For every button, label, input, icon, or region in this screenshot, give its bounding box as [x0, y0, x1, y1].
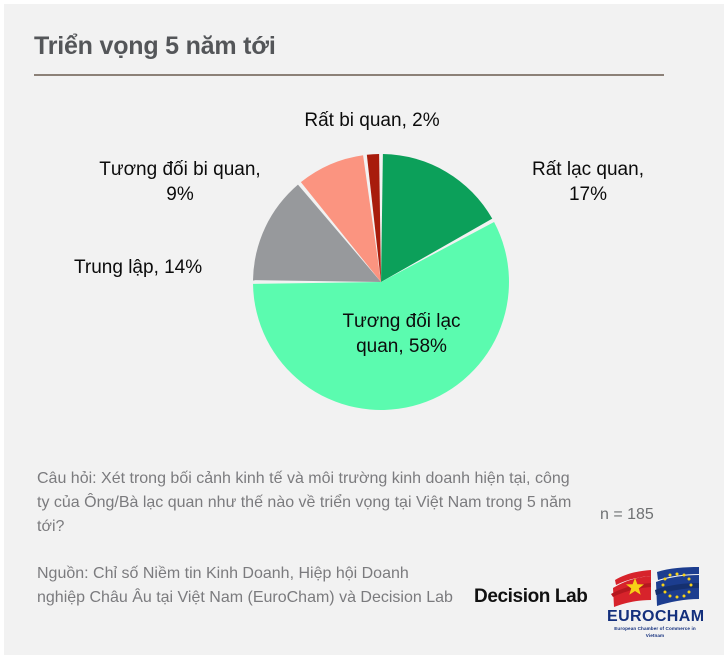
pie-label-very-pessimistic: Rất bi quan, 2%	[252, 108, 492, 133]
pie-label-very-optimistic: Rất lạc quan, 17%	[488, 157, 688, 207]
sample-size-note: n = 185	[600, 506, 654, 524]
page-title: Triển vọng 5 năm tới	[34, 30, 674, 62]
eurocham-wordmark: EUROCHAM	[607, 608, 703, 625]
vietnam-flag-icon	[611, 570, 651, 607]
eurocham-logo: EUROCHAM European Chamber of Commerce in…	[607, 566, 703, 632]
eu-flag-icon	[655, 567, 699, 606]
logo-row: Decision Lab	[474, 566, 704, 636]
title-block: Triển vọng 5 năm tới	[34, 30, 674, 76]
pie-label-somewhat-pessimistic: Tương đối bi quan, 9%	[66, 157, 294, 207]
eurocham-flags-icon	[607, 566, 703, 608]
question-note: Câu hỏi: Xét trong bối cảnh kinh tế và m…	[37, 467, 582, 539]
source-note: Nguồn: Chỉ số Niềm tin Kinh Doanh, Hiệp …	[37, 562, 457, 610]
pie-label-neutral: Trung lập, 14%	[74, 255, 264, 280]
decision-lab-logo: Decision Lab	[474, 586, 587, 608]
infographic-canvas: Triển vọng 5 năm tới Rất bi quan, 2% Tươ…	[0, 0, 728, 659]
pie-label-somewhat-optimistic: Tương đối lạc quan, 58%	[294, 309, 509, 359]
title-divider	[34, 74, 664, 76]
eurocham-tagline: European Chamber of Commerce in Vietnam	[607, 625, 703, 639]
